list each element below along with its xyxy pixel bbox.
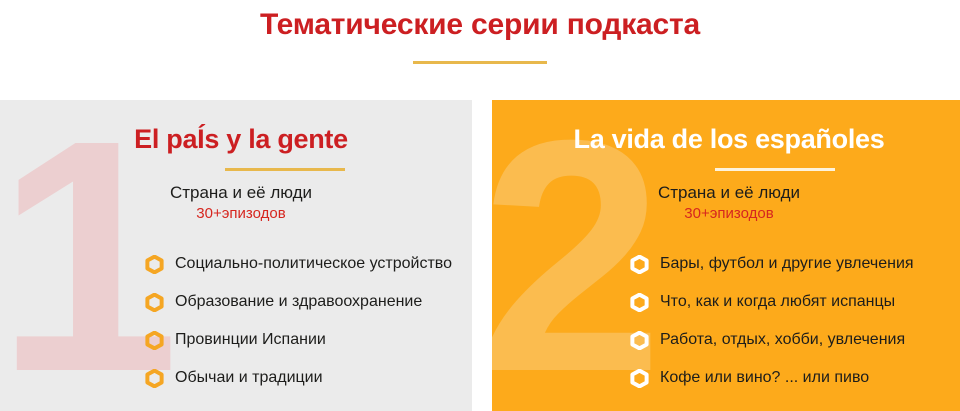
list-item[interactable]: Социально-политическое устройство xyxy=(145,245,472,283)
card-subtitle: Страна и её люди xyxy=(492,182,960,203)
list-item[interactable]: Образование и здравоохранение xyxy=(145,283,472,321)
list-item[interactable]: Обычаи и традиции xyxy=(145,359,472,397)
list-item-label: Бары, футбол и другие увлечения xyxy=(660,254,914,274)
list-item[interactable]: Провинции Испании xyxy=(145,321,472,359)
card-heading: El paÍs y la gente xyxy=(0,122,472,156)
page-title: Тематические серии подкаста xyxy=(0,0,960,44)
podcast-series-page: Тематические серии подкаста 1 El paÍs y … xyxy=(0,0,960,411)
list-item-label: Социально-политическое устройство xyxy=(175,254,452,274)
hexagon-outline-icon xyxy=(630,331,649,350)
card-body: El paÍs y la gente Страна и её люди 30+э… xyxy=(0,100,472,397)
list-item-label: Что, как и когда любят испанцы xyxy=(660,292,895,312)
list-item[interactable]: Бары, футбол и другие увлечения xyxy=(630,245,960,283)
list-item-label: Работа, отдых, хобби, увлечения xyxy=(660,330,905,350)
hexagon-outline-icon xyxy=(145,331,164,350)
list-item[interactable]: Кофе или вино? ... или пиво xyxy=(630,359,960,397)
card-divider xyxy=(715,168,835,171)
hexagon-outline-icon xyxy=(145,255,164,274)
list-item-label: Обычаи и традиции xyxy=(175,368,323,388)
card-subtitle: Страна и её люди xyxy=(0,182,472,203)
list-item-label: Кофе или вино? ... или пиво xyxy=(660,368,869,388)
page-header: Тематические серии подкаста xyxy=(0,0,960,100)
series-card-row: 1 El paÍs y la gente Страна и её люди 30… xyxy=(0,100,960,411)
list-item-label: Образование и здравоохранение xyxy=(175,292,422,312)
card-body: La vida de los españoles Страна и её люд… xyxy=(492,100,960,397)
series-card-1[interactable]: 1 El paÍs y la gente Страна и её люди 30… xyxy=(0,100,472,411)
hexagon-outline-icon xyxy=(630,255,649,274)
list-item[interactable]: Что, как и когда любят испанцы xyxy=(630,283,960,321)
topic-list: Социально-политическое устройство Образо… xyxy=(145,245,472,397)
series-card-2[interactable]: 2 La vida de los españoles Страна и её л… xyxy=(492,100,960,411)
card-episode-count: 30+эпизодов xyxy=(0,204,472,223)
title-divider xyxy=(413,61,547,64)
hexagon-outline-icon xyxy=(630,293,649,312)
topic-list: Бары, футбол и другие увлечения Что, как… xyxy=(630,245,960,397)
card-divider xyxy=(225,168,345,171)
hexagon-outline-icon xyxy=(145,369,164,388)
card-episode-count: 30+эпизодов xyxy=(492,204,960,223)
card-heading: La vida de los españoles xyxy=(492,122,960,156)
hexagon-outline-icon xyxy=(630,369,649,388)
list-item-label: Провинции Испании xyxy=(175,330,326,350)
hexagon-outline-icon xyxy=(145,293,164,312)
list-item[interactable]: Работа, отдых, хобби, увлечения xyxy=(630,321,960,359)
